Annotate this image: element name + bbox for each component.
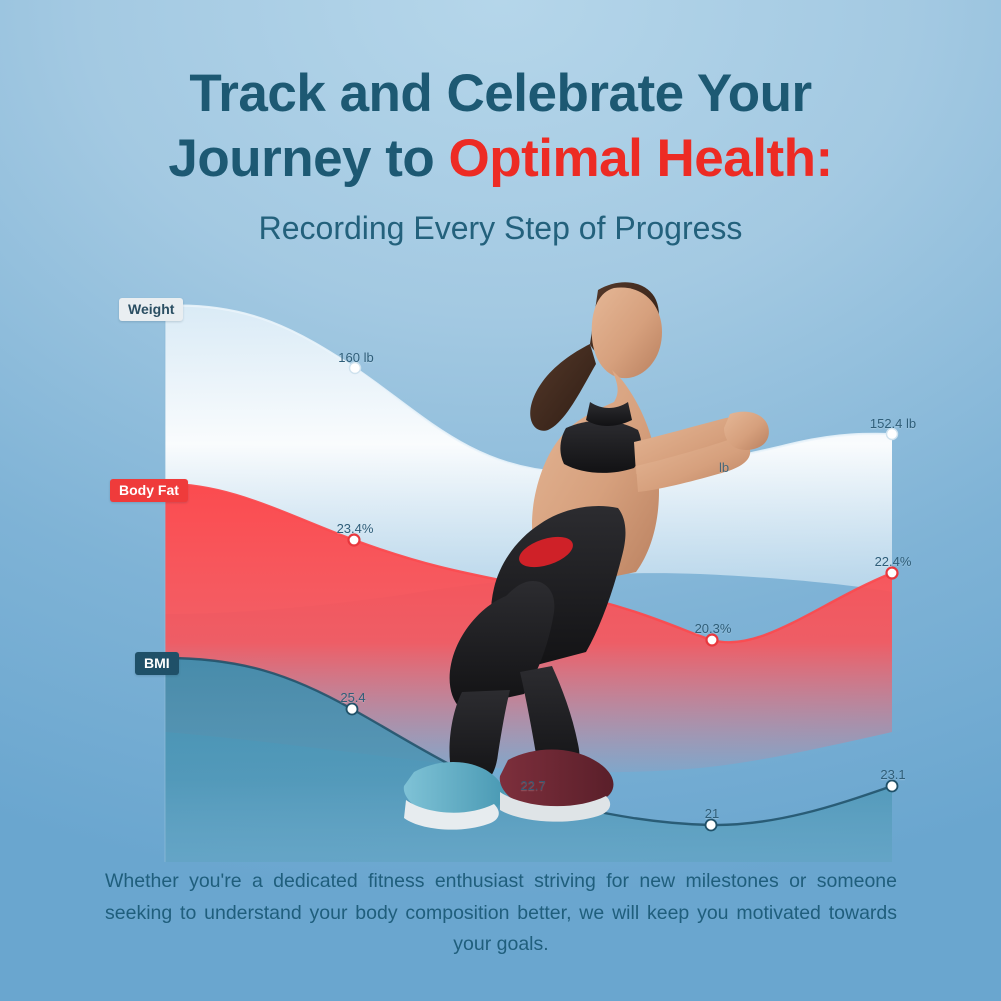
point-label-bmi-21: 21 [705, 806, 719, 821]
dot-bmi-22-7[interactable] [527, 792, 538, 803]
point-label-weight-160: 160 lb [338, 350, 373, 365]
point-label-bodyfat-23-4: 23.4% [337, 521, 374, 536]
dot-bodyfat-23-4[interactable] [349, 535, 360, 546]
header: Track and Celebrate Your Journey to Opti… [0, 0, 1001, 248]
point-label-bodyfat-20-3: 20.3% [695, 621, 732, 636]
point-label-bodyfat-22-4: 22.4% [875, 554, 912, 569]
chart-svg [0, 262, 1001, 862]
point-label-weight-mid-occluded: lb [719, 460, 729, 475]
series-badge-weight[interactable]: Weight [119, 298, 183, 321]
series-badge-bodyfat[interactable]: Body Fat [110, 479, 188, 502]
page-title-line-1: Track and Celebrate Your [0, 62, 1001, 127]
dot-bodyfat-22-4[interactable] [887, 568, 898, 579]
body-composition-chart: Weight Body Fat BMI 160 lb lb 152.4 lb 2… [0, 262, 1001, 862]
point-label-bmi-25-4: 25.4 [340, 690, 365, 705]
infographic-poster: Track and Celebrate Your Journey to Opti… [0, 0, 1001, 1001]
dot-bmi-21[interactable] [706, 820, 717, 831]
dot-bmi-25-4[interactable] [347, 704, 358, 715]
point-label-bmi-22-7: 22.7 [520, 778, 545, 793]
dot-bodyfat-20-3[interactable] [707, 635, 718, 646]
page-title-accent: Optimal Health: [449, 129, 833, 188]
footer-caption: Whether you're a dedicated fitness enthu… [105, 866, 897, 961]
series-badge-bmi[interactable]: BMI [135, 652, 179, 675]
page-title-plain: Journey to [168, 129, 448, 188]
dot-bmi-23-1[interactable] [887, 781, 898, 792]
page-title-line-2: Journey to Optimal Health: [0, 127, 1001, 192]
point-label-weight-152-4: 152.4 lb [870, 416, 916, 431]
page-subtitle: Recording Every Step of Progress [0, 209, 1001, 247]
point-label-bmi-23-1: 23.1 [880, 767, 905, 782]
